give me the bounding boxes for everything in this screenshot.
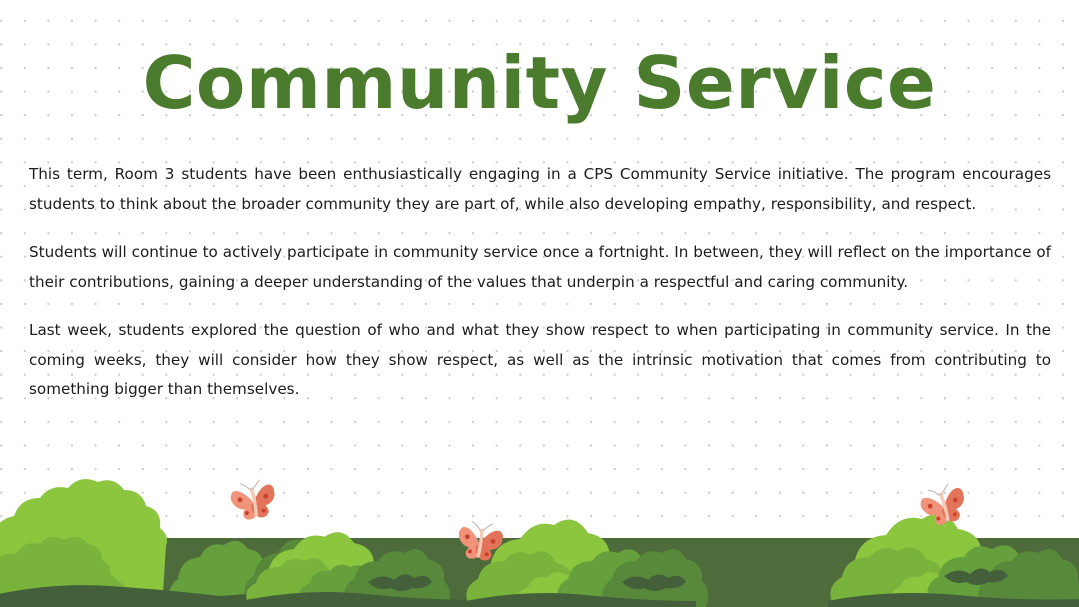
butterfly-icon-right [917, 479, 969, 528]
body-text-block: This term, Room 3 students have been ent… [29, 160, 1051, 405]
butterfly-icon-center [455, 516, 505, 563]
bush-cluster-center-left [246, 532, 476, 607]
bush-cluster-right [828, 514, 1079, 607]
bottom-scenery [0, 470, 1079, 607]
bush-cluster-center-right [466, 520, 708, 607]
bush-illustration [0, 470, 1079, 607]
ground-band [0, 538, 1079, 607]
paragraph-2: Students will continue to actively parti… [29, 238, 1051, 297]
paragraph-1: This term, Room 3 students have been ent… [29, 160, 1051, 219]
butterfly-icon-left [228, 476, 277, 522]
page-title: Community Service [0, 47, 1079, 119]
slide-canvas: Community Service This term, Room 3 stud… [0, 0, 1079, 607]
paragraph-3: Last week, students explored the questio… [29, 316, 1051, 405]
bush-cluster-left [0, 479, 420, 607]
